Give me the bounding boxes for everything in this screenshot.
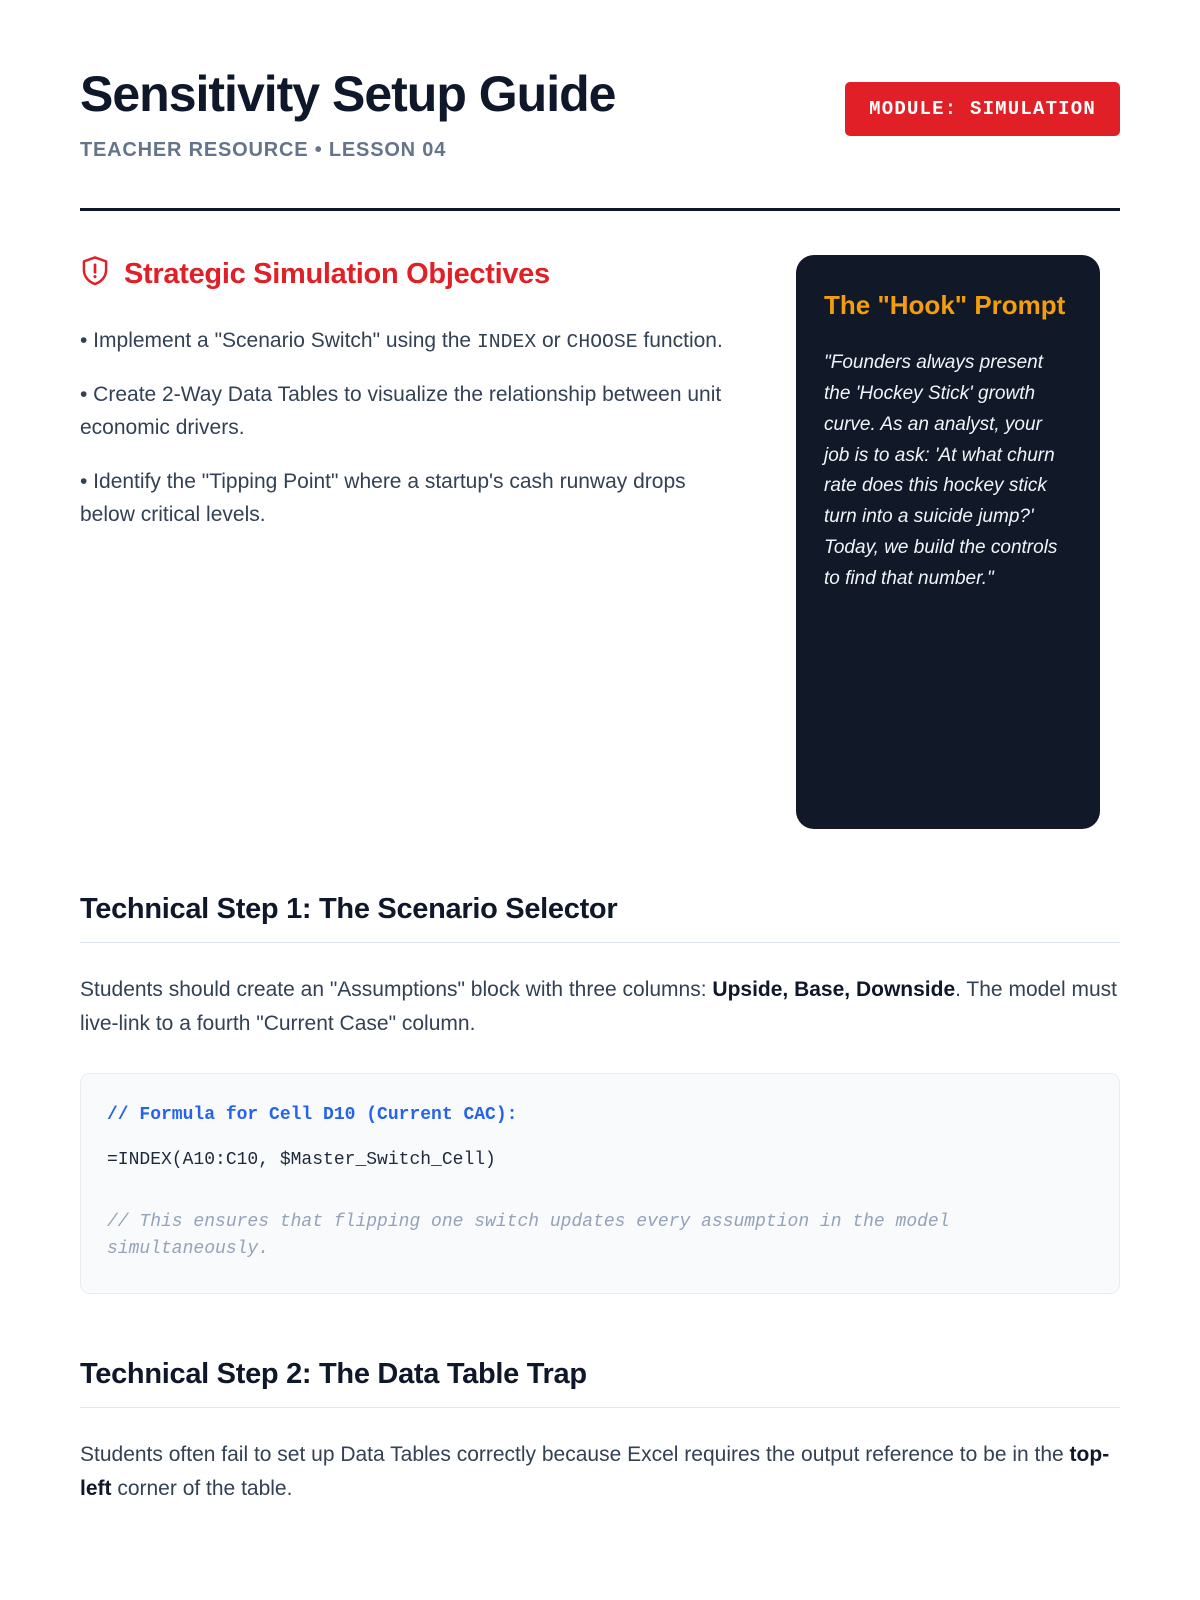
step2-heading: Technical Step 2: The Data Table Trap [80, 1358, 1120, 1391]
page-subtitle: TEACHER RESOURCE • LESSON 04 [80, 139, 845, 162]
objectives-heading: Strategic Simulation Objectives [80, 255, 744, 295]
objective-item: • Implement a "Scenario Switch" using th… [80, 325, 744, 358]
header-divider [80, 208, 1120, 211]
objective-code-choose: CHOOSE [567, 331, 638, 353]
hook-prompt-card: The "Hook" Prompt "Founders always prese… [796, 255, 1100, 829]
step1-heading: Technical Step 1: The Scenario Selector [80, 893, 1120, 926]
objectives-heading-label: Strategic Simulation Objectives [124, 258, 550, 291]
objective-item: • Identify the "Tipping Point" where a s… [80, 466, 744, 531]
page-header: Sensitivity Setup Guide TEACHER RESOURCE… [80, 64, 1120, 162]
objective-text-post: function. [638, 329, 723, 352]
header-text-group: Sensitivity Setup Guide TEACHER RESOURCE… [80, 64, 845, 162]
objective-code-index: INDEX [477, 331, 536, 353]
hook-card-body: "Founders always present the 'Hockey Sti… [824, 348, 1072, 594]
step1-body: Students should create an "Assumptions" … [80, 973, 1120, 1041]
code-formula-line: =INDEX(A10:C10, $Master_Switch_Cell) [107, 1147, 1093, 1175]
hook-card-title: The "Hook" Prompt [824, 289, 1072, 323]
objective-item: • Create 2-Way Data Tables to visualize … [80, 379, 744, 444]
objectives-column: Strategic Simulation Objectives • Implem… [80, 255, 744, 532]
step2-body-cut: output reference to be in the [801, 1443, 1070, 1466]
hook-column: The "Hook" Prompt "Founders always prese… [796, 255, 1100, 829]
shield-alert-icon [80, 255, 110, 295]
objective-text-mid: or [536, 329, 566, 352]
section-step-2: Technical Step 2: The Data Table Trap St… [80, 1358, 1120, 1506]
step1-body-pre: Students should create an "Assumptions" … [80, 978, 712, 1001]
body-columns: Strategic Simulation Objectives • Implem… [80, 255, 1120, 829]
step1-divider [80, 942, 1120, 943]
step2-body-cut-post: corner of the table. [112, 1477, 293, 1500]
code-explanation-note: // This ensures that flipping one switch… [107, 1209, 1093, 1263]
step1-body-bold: Upside, Base, Downside [712, 978, 955, 1001]
step2-body: Students often fail to set up Data Table… [80, 1438, 1120, 1506]
section-step-1: Technical Step 1: The Scenario Selector … [80, 893, 1120, 1295]
step2-body-pre: Students often fail to set up Data Table… [80, 1443, 801, 1466]
document-page: Sensitivity Setup Guide TEACHER RESOURCE… [0, 0, 1200, 1506]
module-badge: MODULE: SIMULATION [845, 82, 1120, 136]
step2-divider [80, 1407, 1120, 1408]
formula-code-block: // Formula for Cell D10 (Current CAC): =… [80, 1073, 1120, 1295]
objective-text: • Implement a "Scenario Switch" using th… [80, 329, 477, 352]
code-comment-heading: // Formula for Cell D10 (Current CAC): [107, 1102, 1093, 1130]
page-title: Sensitivity Setup Guide [80, 68, 845, 121]
